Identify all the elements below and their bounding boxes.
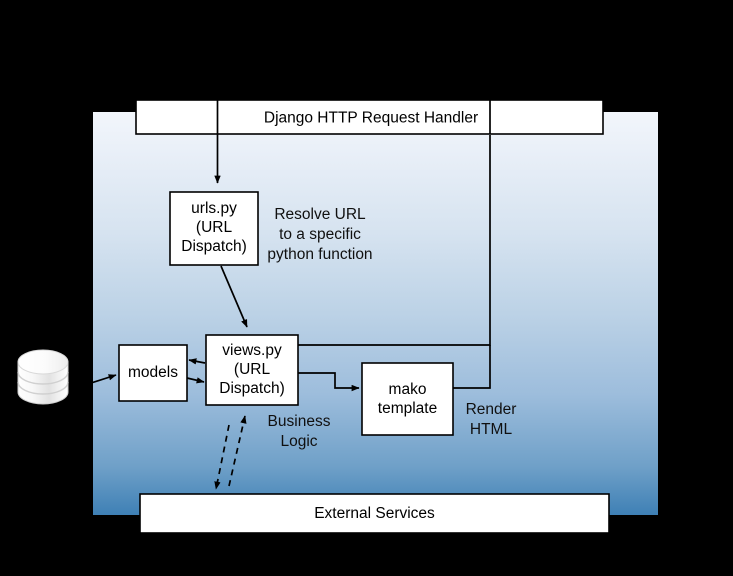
models-label: models bbox=[128, 364, 178, 381]
mako-template-line-1: mako bbox=[389, 381, 427, 398]
resolve-url-annotation: Resolve URL to a specific python functio… bbox=[267, 206, 372, 263]
django-architecture-diagram: Django HTTP Request Handler urls.py (URL… bbox=[0, 0, 733, 576]
external-services-label: External Services bbox=[314, 505, 435, 522]
mako-template-line-2: template bbox=[378, 400, 437, 417]
urls-py-line-2: (URL bbox=[196, 219, 233, 236]
business-logic-line-2: Logic bbox=[280, 433, 317, 450]
external-services-box[interactable]: External Services bbox=[140, 494, 609, 533]
resolve-url-line-1: Resolve URL bbox=[274, 206, 366, 223]
render-html-line-2: HTML bbox=[470, 421, 513, 438]
urls-py-line-3: Dispatch) bbox=[181, 238, 246, 255]
views-py-box[interactable]: views.py (URL Dispatch) bbox=[206, 335, 298, 405]
models-box[interactable]: models bbox=[119, 345, 187, 401]
django-http-request-handler-box[interactable]: Django HTTP Request Handler bbox=[136, 100, 603, 134]
business-logic-line-1: Business bbox=[268, 413, 331, 430]
database-cylinder-icon bbox=[18, 350, 68, 404]
resolve-url-line-3: python function bbox=[267, 246, 372, 263]
gradient-panel bbox=[93, 112, 658, 515]
mako-template-box[interactable]: mako template bbox=[362, 363, 453, 435]
urls-py-box[interactable]: urls.py (URL Dispatch) bbox=[170, 192, 258, 265]
render-html-line-1: Render bbox=[466, 401, 517, 418]
urls-py-line-1: urls.py bbox=[191, 200, 237, 217]
diagram-canvas: Django HTTP Request Handler urls.py (URL… bbox=[0, 0, 733, 576]
views-py-line-2: (URL bbox=[234, 361, 271, 378]
resolve-url-line-2: to a specific bbox=[279, 226, 361, 243]
views-py-line-3: Dispatch) bbox=[219, 380, 284, 397]
views-py-line-1: views.py bbox=[222, 342, 282, 359]
header-label: Django HTTP Request Handler bbox=[264, 110, 478, 127]
